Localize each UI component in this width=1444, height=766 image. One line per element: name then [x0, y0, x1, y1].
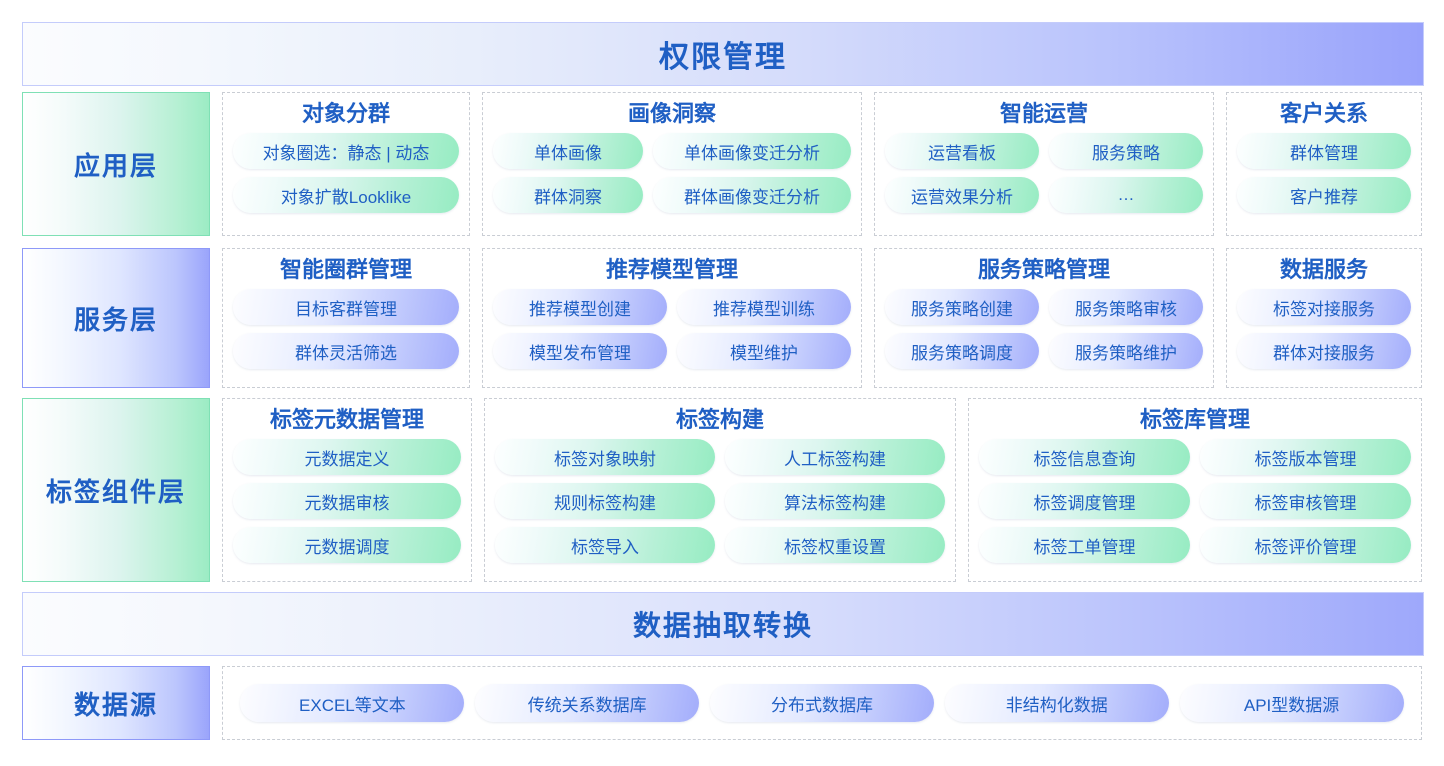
pill-item[interactable]: 群体管理 — [1237, 133, 1411, 169]
column-title: 客户关系 — [1280, 99, 1368, 129]
column-tag-metadata-management: 标签元数据管理 元数据定义 元数据审核 元数据调度 — [222, 398, 472, 582]
layer-label-datasource: 数据源 — [22, 666, 210, 740]
pill-item[interactable]: 标签对象映射 — [495, 439, 715, 475]
pill-item[interactable]: 标签权重设置 — [725, 527, 945, 563]
pill-group: 服务策略创建 服务策略审核 服务策略调度 服务策略维护 — [885, 289, 1203, 369]
column-title: 推荐模型管理 — [606, 255, 738, 285]
pill-item[interactable]: 推荐模型训练 — [677, 289, 851, 325]
layer-label-service: 服务层 — [22, 248, 210, 388]
pill-group: 标签信息查询 标签版本管理 标签调度管理 标签审核管理 标签工单管理 标签评价管… — [979, 439, 1411, 563]
pill-item[interactable]: 规则标签构建 — [495, 483, 715, 519]
datasource-pill[interactable]: 非结构化数据 — [945, 684, 1169, 722]
pill-group: 运营看板 服务策略 运营效果分析 … — [885, 133, 1203, 213]
pill-item[interactable]: 服务策略 — [1049, 133, 1203, 169]
datasource-pill[interactable]: EXCEL等文本 — [240, 684, 464, 722]
pill-item[interactable]: 运营效果分析 — [885, 177, 1039, 213]
pill-item[interactable]: 群体对接服务 — [1237, 333, 1411, 369]
pill-item[interactable]: 服务策略维护 — [1049, 333, 1203, 369]
pill-item[interactable]: 模型发布管理 — [493, 333, 667, 369]
layer-row-application: 应用层 对象分群 对象圈选：静态 | 动态 对象扩散Looklike 画像洞察 … — [22, 92, 1422, 236]
pill-item[interactable]: 单体画像 — [493, 133, 643, 169]
permission-management-banner: 权限管理 — [22, 22, 1424, 86]
pill-item[interactable]: 标签信息查询 — [979, 439, 1190, 475]
pill-item[interactable]: 群体洞察 — [493, 177, 643, 213]
pill-item[interactable]: 运营看板 — [885, 133, 1039, 169]
column-portrait-insight: 画像洞察 单体画像 单体画像变迁分析 群体洞察 群体画像变迁分析 — [482, 92, 862, 236]
pill-item[interactable]: 对象扩散Looklike — [233, 177, 459, 213]
pill-item[interactable]: 标签工单管理 — [979, 527, 1190, 563]
pill-item[interactable]: 元数据审核 — [233, 483, 461, 519]
application-columns: 对象分群 对象圈选：静态 | 动态 对象扩散Looklike 画像洞察 单体画像… — [222, 92, 1422, 236]
column-tag-construction: 标签构建 标签对象映射 人工标签构建 规则标签构建 算法标签构建 标签导入 标签… — [484, 398, 956, 582]
pill-group: 标签对象映射 人工标签构建 规则标签构建 算法标签构建 标签导入 标签权重设置 — [495, 439, 945, 563]
pill-group: 推荐模型创建 推荐模型训练 模型发布管理 模型维护 — [493, 289, 851, 369]
column-service-strategy-management: 服务策略管理 服务策略创建 服务策略审核 服务策略调度 服务策略维护 — [874, 248, 1214, 388]
data-extraction-transformation-banner: 数据抽取转换 — [22, 592, 1424, 656]
architecture-diagram: 权限管理 应用层 对象分群 对象圈选：静态 | 动态 对象扩散Looklike … — [0, 0, 1444, 766]
pill-item[interactable]: 模型维护 — [677, 333, 851, 369]
pill-item[interactable]: 群体灵活筛选 — [233, 333, 459, 369]
datasource-pill[interactable]: API型数据源 — [1180, 684, 1404, 722]
pill-group: 元数据定义 元数据审核 元数据调度 — [233, 439, 461, 563]
pill-group: 目标客群管理 群体灵活筛选 — [233, 289, 459, 369]
pill-item[interactable]: 标签评价管理 — [1200, 527, 1411, 563]
pill-item[interactable]: 服务策略调度 — [885, 333, 1039, 369]
layer-label-tag-component: 标签组件层 — [22, 398, 210, 582]
pill-item[interactable]: 人工标签构建 — [725, 439, 945, 475]
layer-label-application: 应用层 — [22, 92, 210, 236]
layer-label-text: 服务层 — [74, 300, 158, 337]
pill-item[interactable]: 群体画像变迁分析 — [653, 177, 851, 213]
layer-label-text: 应用层 — [74, 146, 158, 183]
pill-item[interactable]: 标签对接服务 — [1237, 289, 1411, 325]
column-title: 智能运营 — [1000, 99, 1088, 129]
pill-group: 对象圈选：静态 | 动态 对象扩散Looklike — [233, 133, 459, 213]
pill-item[interactable]: 算法标签构建 — [725, 483, 945, 519]
pill-item[interactable]: 目标客群管理 — [233, 289, 459, 325]
etl-title: 数据抽取转换 — [633, 604, 813, 644]
column-title: 标签元数据管理 — [270, 405, 424, 435]
pill-item[interactable]: 单体画像变迁分析 — [653, 133, 851, 169]
column-data-service: 数据服务 标签对接服务 群体对接服务 — [1226, 248, 1422, 388]
column-title: 标签构建 — [676, 405, 764, 435]
column-title: 对象分群 — [302, 99, 390, 129]
column-title: 智能圈群管理 — [280, 255, 412, 285]
layer-label-text: 数据源 — [74, 685, 158, 722]
pill-item[interactable]: 标签调度管理 — [979, 483, 1190, 519]
datasource-pill[interactable]: 传统关系数据库 — [475, 684, 699, 722]
column-customer-relationship: 客户关系 群体管理 客户推荐 — [1226, 92, 1422, 236]
pill-item[interactable]: 客户推荐 — [1237, 177, 1411, 213]
tag-columns: 标签元数据管理 元数据定义 元数据审核 元数据调度 标签构建 标签对象映射 人工… — [222, 398, 1422, 582]
column-tag-library-management: 标签库管理 标签信息查询 标签版本管理 标签调度管理 标签审核管理 标签工单管理… — [968, 398, 1422, 582]
layer-row-datasource: 数据源 EXCEL等文本 传统关系数据库 分布式数据库 非结构化数据 API型数… — [22, 666, 1422, 740]
column-title: 服务策略管理 — [978, 255, 1110, 285]
layer-row-tag-component: 标签组件层 标签元数据管理 元数据定义 元数据审核 元数据调度 标签构建 标签对… — [22, 398, 1422, 582]
column-title: 数据服务 — [1280, 255, 1368, 285]
column-smart-group-management: 智能圈群管理 目标客群管理 群体灵活筛选 — [222, 248, 470, 388]
pill-item[interactable]: 元数据定义 — [233, 439, 461, 475]
pill-item[interactable]: 标签导入 — [495, 527, 715, 563]
pill-item[interactable]: 服务策略创建 — [885, 289, 1039, 325]
column-object-grouping: 对象分群 对象圈选：静态 | 动态 对象扩散Looklike — [222, 92, 470, 236]
pill-item[interactable]: 标签版本管理 — [1200, 439, 1411, 475]
column-intelligent-operation: 智能运营 运营看板 服务策略 运营效果分析 … — [874, 92, 1214, 236]
layer-row-service: 服务层 智能圈群管理 目标客群管理 群体灵活筛选 推荐模型管理 推荐模型创建 推… — [22, 248, 1422, 388]
pill-item[interactable]: 标签审核管理 — [1200, 483, 1411, 519]
datasource-pill[interactable]: 分布式数据库 — [710, 684, 934, 722]
pill-item[interactable]: 元数据调度 — [233, 527, 461, 563]
banner-title: 权限管理 — [659, 32, 787, 76]
pill-group: 标签对接服务 群体对接服务 — [1237, 289, 1411, 369]
datasource-items: EXCEL等文本 传统关系数据库 分布式数据库 非结构化数据 API型数据源 — [222, 666, 1422, 740]
pill-item[interactable]: 对象圈选：静态 | 动态 — [233, 133, 459, 169]
pill-group: 单体画像 单体画像变迁分析 群体洞察 群体画像变迁分析 — [493, 133, 851, 213]
column-recommendation-model-management: 推荐模型管理 推荐模型创建 推荐模型训练 模型发布管理 模型维护 — [482, 248, 862, 388]
pill-item[interactable]: 服务策略审核 — [1049, 289, 1203, 325]
column-title: 标签库管理 — [1140, 405, 1250, 435]
pill-item-ellipsis[interactable]: … — [1049, 177, 1203, 213]
column-title: 画像洞察 — [628, 99, 716, 129]
pill-item[interactable]: 推荐模型创建 — [493, 289, 667, 325]
service-columns: 智能圈群管理 目标客群管理 群体灵活筛选 推荐模型管理 推荐模型创建 推荐模型训… — [222, 248, 1422, 388]
layer-label-text: 标签组件层 — [46, 472, 186, 509]
pill-group: 群体管理 客户推荐 — [1237, 133, 1411, 213]
